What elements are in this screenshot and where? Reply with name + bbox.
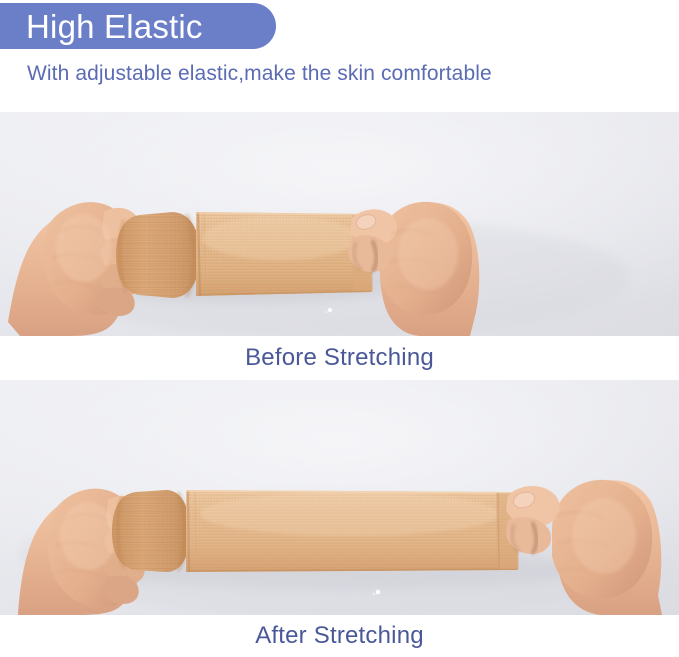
header-subtitle: With adjustable elastic,make the skin co… — [27, 62, 492, 86]
table-speck — [376, 590, 381, 595]
photo-before-stretching — [0, 112, 679, 336]
before-stretching-illustration — [0, 112, 679, 336]
caption-before-stretching: Before Stretching — [245, 344, 434, 372]
bandage-stretched — [112, 490, 519, 572]
caption-band-before: Before Stretching — [0, 336, 679, 380]
high-elastic-badge: High Elastic — [0, 3, 276, 49]
table-speck — [328, 308, 332, 312]
caption-after-stretching: After Stretching — [255, 622, 424, 650]
caption-band-after: After Stretching — [0, 615, 679, 657]
bandage-unstretched — [116, 212, 373, 298]
header: High Elastic With adjustable elastic,mak… — [0, 0, 679, 112]
badge-label: High Elastic — [0, 10, 203, 43]
after-stretching-illustration — [0, 380, 679, 615]
photo-after-stretching — [0, 380, 679, 615]
